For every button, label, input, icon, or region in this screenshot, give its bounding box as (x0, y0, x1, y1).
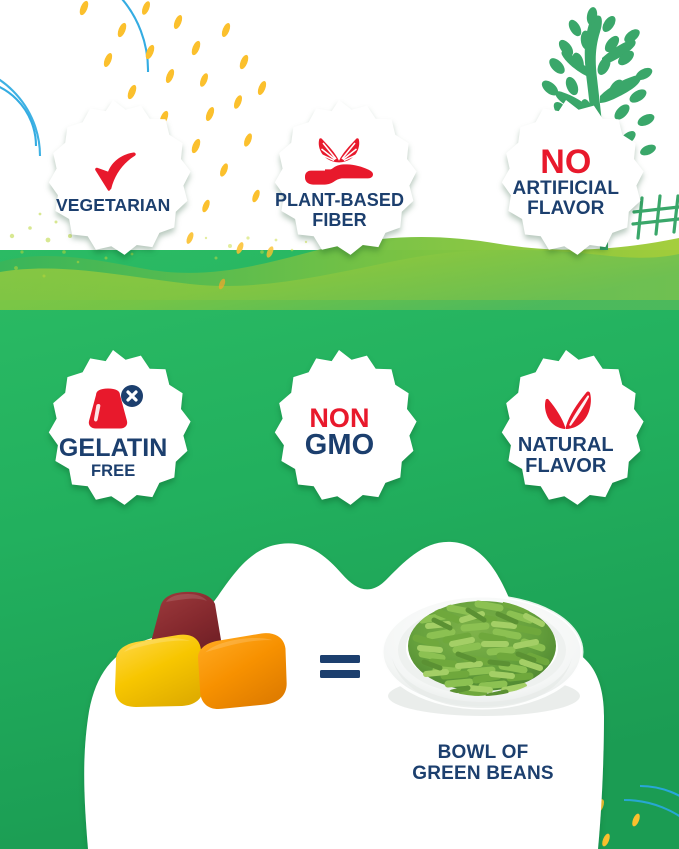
badge-no-artificial-flavor[interactable]: NO ARTIFICIAL FLAVOR (480, 96, 652, 268)
badge-non-gmo[interactable]: NON GMO (253, 346, 425, 518)
hand-holding-leaves-icon (303, 136, 375, 188)
badge-label-line2: FREE (91, 463, 135, 480)
badge-label: VEGETARIAN (56, 197, 170, 215)
badge-label-line1: NO (540, 146, 591, 178)
gelatin-mold-no-icon (80, 385, 146, 433)
three-gummies-image (108, 590, 323, 720)
badge-vegetarian[interactable]: VEGETARIAN (27, 96, 199, 268)
gummy-yellow (115, 635, 203, 707)
badge-label-line1: NATURAL (518, 435, 614, 455)
badge-gelatin-free[interactable]: GELATIN FREE (27, 346, 199, 518)
badge-label-line2: FLAVOR (525, 456, 606, 476)
badge-label-line2: GMO (305, 431, 375, 460)
badge-label-line1: NON (309, 405, 369, 432)
leaf-check-icon (85, 150, 141, 194)
badge-natural-flavor[interactable]: NATURAL FLAVOR (480, 346, 652, 518)
two-leaves-icon (535, 388, 597, 432)
product-infographic: VEGETARIAN (0, 0, 679, 849)
badge-label-line2: FIBER (312, 211, 367, 229)
badge-label-line3: FLAVOR (527, 199, 604, 218)
badge-label-line2: ARTIFICIAL (513, 179, 620, 198)
benefit-badges-grid: VEGETARIAN (0, 96, 679, 518)
badge-label-line1: GELATIN (59, 436, 168, 461)
serving-comparison: 3 GUMMIES (0, 560, 679, 810)
badge-plant-based-fiber[interactable]: PLANT-BASED FIBER (253, 96, 425, 268)
equals-icon (318, 650, 362, 684)
badge-label-line1: PLANT-BASED (275, 191, 404, 209)
bowl-of-green-beans-image (378, 576, 593, 726)
